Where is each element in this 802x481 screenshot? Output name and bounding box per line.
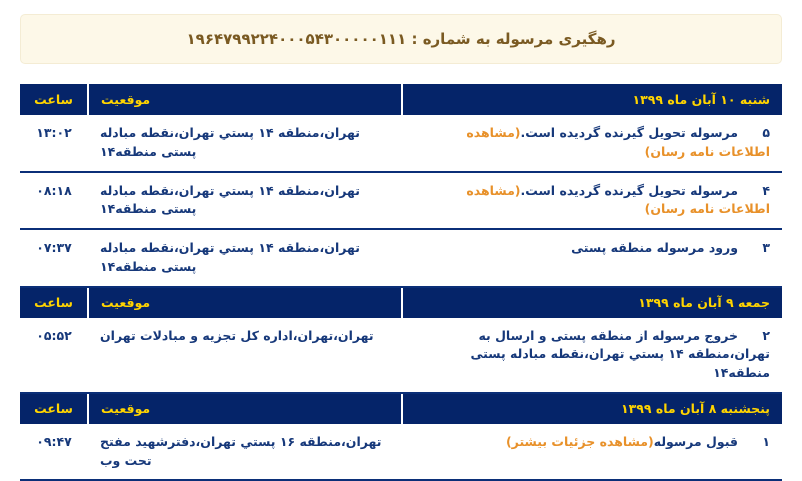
event-location: تهران،تهران،اداره کل تجزیه و مبادلات تهر…	[88, 318, 402, 393]
column-header-time: ساعت	[20, 393, 88, 424]
event-description: مرسوله تحویل گیرنده گردیده است.	[521, 183, 738, 198]
row-index: ۱	[752, 433, 770, 452]
table-row: ۳ورود مرسوله منطقه پستی تهران،منطقه ۱۴ پ…	[20, 229, 782, 287]
group-body-1: ۲خروج مرسوله از منطقه پستی و ارسال به ته…	[20, 318, 782, 393]
event-description: خروج مرسوله از منطقه پستی و ارسال به تهر…	[471, 328, 770, 381]
group-date-1: جمعه ۹ آبان ماه ۱۳۹۹	[402, 287, 782, 318]
column-header-location: موقعیت	[88, 393, 402, 424]
group-header-2: پنجشنبه ۸ آبان ماه ۱۳۹۹ موقعیت ساعت	[20, 393, 782, 424]
table-row: ۱قبول مرسوله(مشاهده جزئیات بیشتر) تهران،…	[20, 424, 782, 481]
event-time: ۰۷:۳۷	[20, 229, 88, 287]
column-header-time: ساعت	[20, 287, 88, 318]
group-date-2: پنجشنبه ۸ آبان ماه ۱۳۹۹	[402, 393, 782, 424]
event-description: قبول مرسوله	[654, 434, 738, 449]
event-location: تهران،منطقه ۱۶ پستي تهران،دفترشهید مفتح …	[88, 424, 402, 481]
event-time: ۱۳:۰۲	[20, 115, 88, 172]
event-description-cell: ۳ورود مرسوله منطقه پستی	[402, 229, 782, 287]
group-header-1: جمعه ۹ آبان ماه ۱۳۹۹ موقعیت ساعت	[20, 287, 782, 318]
event-time: ۰۸:۱۸	[20, 172, 88, 230]
tracking-events-table: شنبه ۱۰ آبان ماه ۱۳۹۹ موقعیت ساعت ۵مرسول…	[20, 84, 782, 481]
event-description-cell: ۱قبول مرسوله(مشاهده جزئیات بیشتر)	[402, 424, 782, 481]
event-location: تهران،منطقه ۱۴ پستي تهران،نقطه مبادله پس…	[88, 229, 402, 287]
table-row: ۴مرسوله تحویل گیرنده گردیده است.(مشاهده …	[20, 172, 782, 230]
column-header-time: ساعت	[20, 84, 88, 115]
group-body-2: ۱قبول مرسوله(مشاهده جزئیات بیشتر) تهران،…	[20, 424, 782, 481]
event-description: ورود مرسوله منطقه پستی	[571, 240, 738, 255]
tracking-number-banner: رهگیری مرسوله به شماره : ۱۹۶۴۷۹۹۲۲۴۰۰۰۵۴…	[20, 14, 782, 64]
group-body-0: ۵مرسوله تحویل گیرنده گردیده است.(مشاهده …	[20, 115, 782, 287]
row-index: ۲	[752, 327, 770, 346]
table-row: ۵مرسوله تحویل گیرنده گردیده است.(مشاهده …	[20, 115, 782, 172]
tracking-page: رهگیری مرسوله به شماره : ۱۹۶۴۷۹۹۲۲۴۰۰۰۵۴…	[0, 0, 802, 421]
group-date-0: شنبه ۱۰ آبان ماه ۱۳۹۹	[402, 84, 782, 115]
event-time: ۰۵:۵۲	[20, 318, 88, 393]
more-details-link[interactable]: (مشاهده جزئیات بیشتر)	[506, 434, 654, 449]
event-description-cell: ۵مرسوله تحویل گیرنده گردیده است.(مشاهده …	[402, 115, 782, 172]
row-index: ۴	[752, 182, 770, 201]
column-header-location: موقعیت	[88, 287, 402, 318]
event-description-cell: ۲خروج مرسوله از منطقه پستی و ارسال به ته…	[402, 318, 782, 393]
event-location: تهران،منطقه ۱۴ پستي تهران،نقطه مبادله پس…	[88, 172, 402, 230]
tracking-number-label: رهگیری مرسوله به شماره : ۱۹۶۴۷۹۹۲۲۴۰۰۰۵۴…	[187, 30, 616, 48]
event-description: مرسوله تحویل گیرنده گردیده است.	[521, 125, 738, 140]
table-row: ۲خروج مرسوله از منطقه پستی و ارسال به ته…	[20, 318, 782, 393]
group-header-0: شنبه ۱۰ آبان ماه ۱۳۹۹ موقعیت ساعت	[20, 84, 782, 115]
event-location: تهران،منطقه ۱۴ پستي تهران،نقطه مبادله پس…	[88, 115, 402, 172]
row-index: ۳	[752, 239, 770, 258]
event-description-cell: ۴مرسوله تحویل گیرنده گردیده است.(مشاهده …	[402, 172, 782, 230]
event-time: ۰۹:۴۷	[20, 424, 88, 481]
row-index: ۵	[752, 124, 770, 143]
column-header-location: موقعیت	[88, 84, 402, 115]
